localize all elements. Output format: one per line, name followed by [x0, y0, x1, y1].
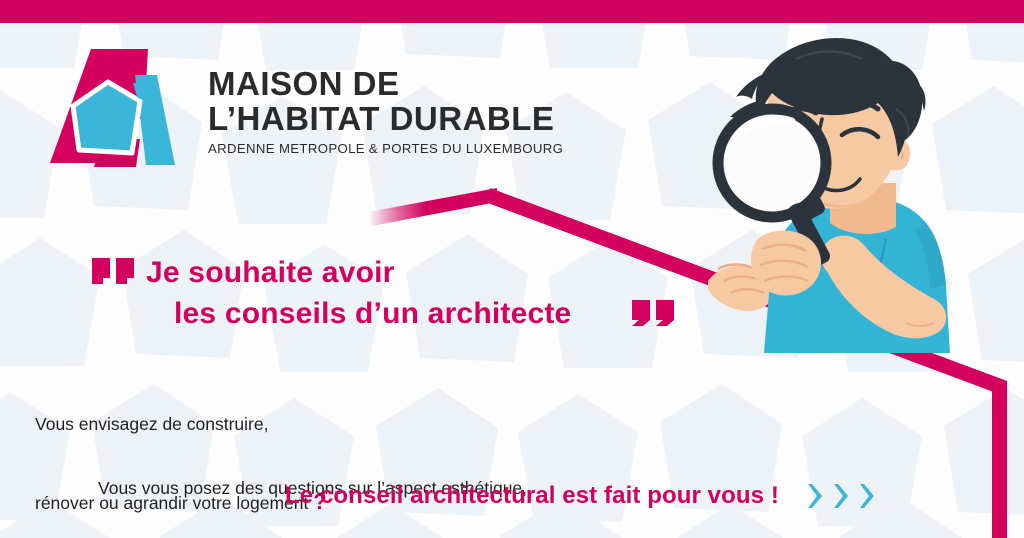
character-head: [730, 38, 926, 209]
logo-tagline: ARDENNE METROPOLE & PORTES DU LUXEMBOURG: [208, 141, 563, 156]
cta-chevron-group: [805, 482, 877, 510]
logo-block: MAISON DE L’HABITAT DURABLE ARDENNE METR…: [36, 47, 563, 169]
magnifying-glass-icon: [718, 109, 832, 278]
character-tshirt: [764, 197, 950, 353]
headline-line-1: Je souhaite avoir: [146, 252, 710, 293]
character-forearm: [821, 236, 946, 339]
character-hand-holding-magnifier: [751, 231, 821, 296]
maison-habitat-durable-logo-mark: [36, 47, 188, 169]
chevron-right-icon: [857, 482, 877, 510]
chevron-right-icon: [805, 482, 825, 510]
maison-habitat-durable-banner: MAISON DE L’HABITAT DURABLE ARDENNE METR…: [0, 0, 1024, 538]
man-with-magnifying-glass-illustration: [700, 23, 1024, 353]
quote-close-icon: [630, 300, 676, 330]
call-to-action: Le conseil architectural est fait pour v…: [285, 482, 877, 510]
intro-paragraph-2: Vous vous posez des questions sur l’aspe…: [98, 423, 632, 538]
chevron-right-icon: [831, 482, 851, 510]
cta-text: Le conseil architectural est fait pour v…: [285, 482, 779, 510]
top-accent-bar: [0, 0, 1024, 23]
logo-title-line-1: MAISON DE: [208, 66, 563, 101]
quote-open-icon: [90, 258, 136, 288]
headline-block: Je souhaite avoir les conseils d’un arch…: [90, 252, 710, 334]
logo-wordmark: MAISON DE L’HABITAT DURABLE ARDENNE METR…: [208, 66, 563, 156]
logo-title-line-2: L’HABITAT DURABLE: [208, 101, 563, 136]
character-hand-gripping-roofline: [708, 265, 774, 312]
